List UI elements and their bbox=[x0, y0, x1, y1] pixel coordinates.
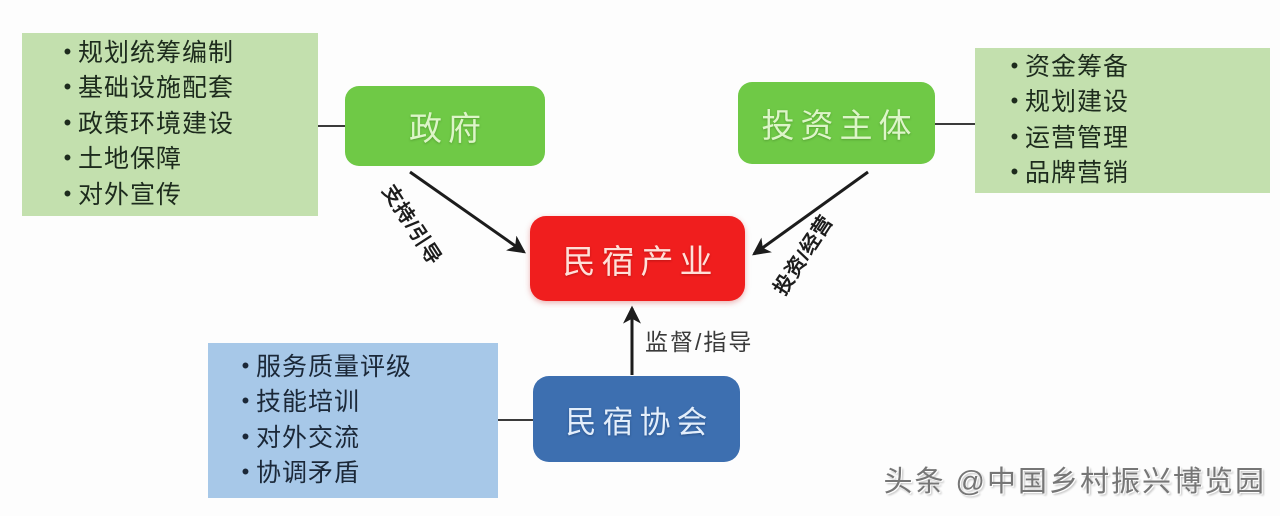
investor-duties-box: • 资金筹备 • 规划建设 • 运营管理 • 品牌营销 bbox=[975, 48, 1270, 193]
bullet-icon: • bbox=[58, 36, 78, 67]
list-item: • 协调矛盾 bbox=[236, 456, 498, 492]
bullet-icon: • bbox=[1005, 121, 1025, 152]
edge-label-government-to-industry: 支持/引导 bbox=[377, 178, 451, 270]
node-government-label: 政府 bbox=[403, 102, 487, 150]
list-item: • 对外宣传 bbox=[58, 178, 318, 214]
list-item: • 技能培训 bbox=[236, 385, 498, 421]
list-item-label: 规划建设 bbox=[1025, 85, 1129, 121]
list-item-label: 政策环境建设 bbox=[78, 107, 234, 143]
list-item-label: 基础设施配套 bbox=[78, 71, 234, 107]
list-item: • 基础设施配套 bbox=[58, 71, 318, 107]
node-industry[interactable]: 民宿产业 bbox=[530, 216, 745, 301]
list-item-label: 运营管理 bbox=[1025, 121, 1129, 157]
list-item: • 规划统筹编制 bbox=[58, 36, 318, 72]
node-investor-label: 投资主体 bbox=[756, 99, 918, 147]
node-association-label: 民宿协会 bbox=[560, 397, 714, 442]
list-item: • 品牌营销 bbox=[1005, 156, 1270, 192]
bullet-icon: • bbox=[236, 350, 256, 381]
list-item: • 服务质量评级 bbox=[236, 350, 498, 386]
node-association[interactable]: 民宿协会 bbox=[533, 376, 740, 462]
list-item-label: 品牌营销 bbox=[1025, 156, 1129, 192]
list-item-label: 对外宣传 bbox=[78, 178, 182, 214]
node-government[interactable]: 政府 bbox=[345, 86, 545, 166]
bullet-icon: • bbox=[58, 71, 78, 102]
bullet-icon: • bbox=[58, 178, 78, 209]
list-item-label: 服务质量评级 bbox=[256, 350, 412, 386]
edge-label-investor-to-industry: 投资/经营 bbox=[765, 208, 839, 300]
edge-label-association-to-industry: 监督/指导 bbox=[645, 323, 753, 357]
node-industry-label: 民宿产业 bbox=[557, 235, 719, 283]
list-item: • 对外交流 bbox=[236, 421, 498, 457]
list-item: • 土地保障 bbox=[58, 142, 318, 178]
bullet-icon: • bbox=[1005, 156, 1025, 187]
bullet-icon: • bbox=[1005, 50, 1025, 81]
bullet-icon: • bbox=[236, 421, 256, 452]
list-item: • 政策环境建设 bbox=[58, 107, 318, 143]
bullet-icon: • bbox=[236, 385, 256, 416]
list-item-label: 规划统筹编制 bbox=[78, 36, 234, 72]
list-item: • 规划建设 bbox=[1005, 85, 1270, 121]
list-item-label: 土地保障 bbox=[78, 142, 182, 178]
bullet-icon: • bbox=[236, 456, 256, 487]
list-item: • 资金筹备 bbox=[1005, 50, 1270, 86]
list-item: • 运营管理 bbox=[1005, 121, 1270, 157]
list-item-label: 协调矛盾 bbox=[256, 456, 360, 492]
government-duties-box: • 规划统筹编制 • 基础设施配套 • 政策环境建设 • 土地保障 • 对外宣传 bbox=[22, 33, 318, 216]
bullet-icon: • bbox=[58, 142, 78, 173]
watermark: 头条 @中国乡村振兴博览园 bbox=[884, 458, 1267, 500]
node-investor[interactable]: 投资主体 bbox=[738, 82, 935, 164]
list-item-label: 对外交流 bbox=[256, 421, 360, 457]
association-duties-box: • 服务质量评级 • 技能培训 • 对外交流 • 协调矛盾 bbox=[208, 343, 498, 498]
bullet-icon: • bbox=[58, 107, 78, 138]
connector-investor-list bbox=[930, 123, 978, 125]
list-item-label: 资金筹备 bbox=[1025, 50, 1129, 86]
bullet-icon: • bbox=[1005, 85, 1025, 116]
list-item-label: 技能培训 bbox=[256, 385, 360, 421]
diagram-canvas: • 规划统筹编制 • 基础设施配套 • 政策环境建设 • 土地保障 • 对外宣传… bbox=[0, 0, 1280, 516]
